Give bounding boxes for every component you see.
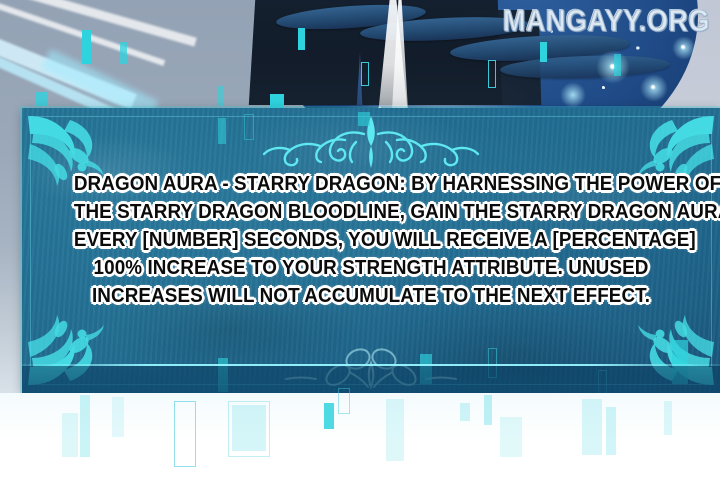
sparkle-glow-4 <box>560 82 586 108</box>
top-center-filigree-icon <box>246 112 496 170</box>
message-line-5: INCREASES WILL NOT ACCUMULATE TO THE NEX… <box>74 282 668 310</box>
glyph-rect-10 <box>270 94 284 108</box>
bottom-glyph-12 <box>500 417 522 457</box>
site-watermark: MangaYY.Org <box>503 4 710 39</box>
bottom-glyph-10 <box>460 403 470 421</box>
message-line-3: EVERY [NUMBER] SECONDS, YOU WILL RECEIVE… <box>74 226 668 254</box>
bottom-glyph-15 <box>664 401 672 435</box>
sparkle-2 <box>651 85 655 89</box>
glyph-rect-3 <box>298 28 305 50</box>
glyph-rect-8 <box>218 86 224 106</box>
bottom-glyph-11 <box>484 395 492 425</box>
glyph-rect-2 <box>120 42 127 64</box>
glyph-rect-6 <box>540 42 547 62</box>
sparkle-3 <box>681 45 685 49</box>
panel-glyph-3 <box>358 112 370 126</box>
bottom-glyph-9 <box>386 399 404 461</box>
panel-glyph-2 <box>244 114 254 140</box>
glyph-rect-9 <box>36 92 48 106</box>
message-text-block: DRAGON AURA - STARRY DRAGON: BY HARNESSI… <box>22 170 720 310</box>
bottom-glyph-8 <box>338 388 350 414</box>
manga-panel-scene: DRAGON AURA - STARRY DRAGON: BY HARNESSI… <box>0 0 720 497</box>
dialogue-panel: DRAGON AURA - STARRY DRAGON: BY HARNESSI… <box>22 108 720 393</box>
bottom-glyph-13 <box>582 399 602 455</box>
message-line-1: DRAGON AURA - STARRY DRAGON: BY HARNESSI… <box>74 170 668 198</box>
panel-lower-band <box>22 366 720 393</box>
glyph-rect-4 <box>361 62 369 86</box>
bottom-glyph-4 <box>174 401 196 467</box>
message-line-4: 100% INCREASE TO YOUR STRENGTH ATTRIBUTE… <box>74 254 668 282</box>
bottom-glyph-1 <box>80 395 90 457</box>
glyph-rect-5 <box>488 60 496 88</box>
bottom-glyph-7 <box>324 403 334 429</box>
glyph-rect-1 <box>82 30 91 64</box>
glyph-rect-7 <box>614 54 621 76</box>
bottom-white-area <box>0 393 720 497</box>
bottom-glyph-6 <box>228 401 270 457</box>
bottom-glyph-2 <box>62 413 78 457</box>
panel-glyph-1 <box>218 118 226 144</box>
bottom-glyph-3 <box>112 397 124 437</box>
message-line-2: THE STARRY DRAGON BLOODLINE, GAIN THE ST… <box>74 198 668 226</box>
bottom-glyph-14 <box>606 407 616 455</box>
